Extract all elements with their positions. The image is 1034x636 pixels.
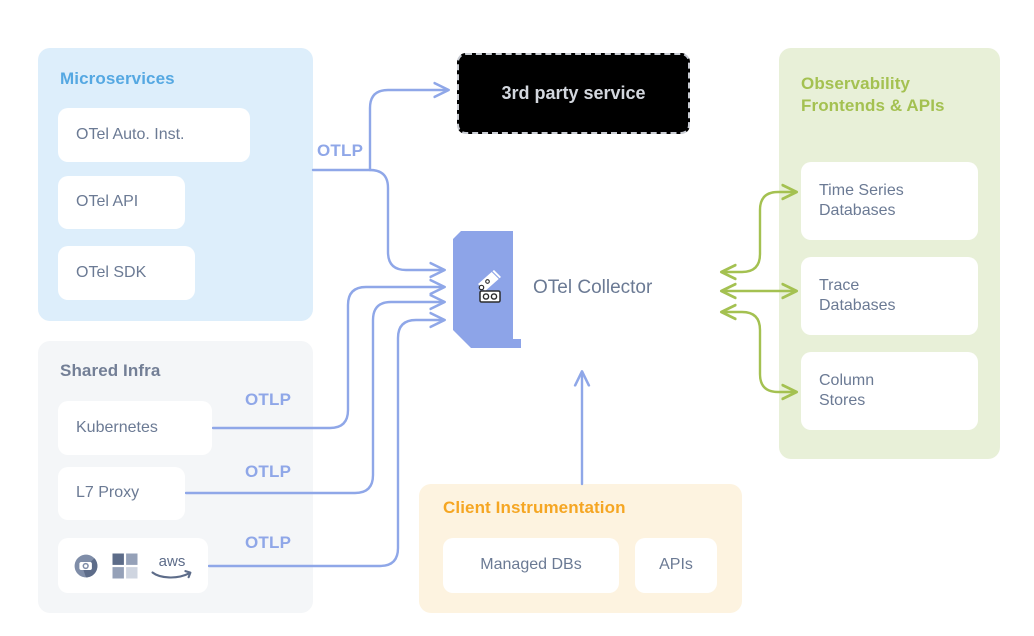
panel-shared-infra-title: Shared Infra: [60, 360, 160, 382]
card-column-stores[interactable]: Column Stores: [801, 352, 978, 430]
card-trace-databases[interactable]: Trace Databases: [801, 257, 978, 335]
card-apis[interactable]: APIs: [635, 538, 717, 593]
third-party-service-box[interactable]: 3rd party service: [457, 53, 690, 134]
otlp-label-kubernetes: OTLP: [245, 390, 291, 410]
card-kubernetes[interactable]: Kubernetes: [58, 401, 212, 455]
azure-icon: [112, 553, 138, 579]
card-otel-sdk[interactable]: OTel SDK: [58, 246, 195, 300]
panel-client-instrumentation-title: Client Instrumentation: [443, 497, 626, 519]
otlp-label-microservices: OTLP: [317, 141, 363, 161]
otlp-label-cloud: OTLP: [245, 533, 291, 553]
card-time-series-databases[interactable]: Time Series Databases: [801, 162, 978, 240]
otel-collector-label: OTel Collector: [533, 277, 652, 299]
card-cloud-providers[interactable]: aws: [58, 538, 208, 593]
telescope-icon: [466, 264, 508, 306]
aws-icon: aws: [149, 552, 195, 580]
panel-observability-title: Observability Frontends & APIs: [801, 73, 945, 118]
card-managed-dbs[interactable]: Managed DBs: [443, 538, 619, 593]
svg-text:aws: aws: [159, 553, 186, 570]
otlp-label-l7proxy: OTLP: [245, 462, 291, 482]
card-l7-proxy[interactable]: L7 Proxy: [58, 467, 185, 520]
panel-microservices-title: Microservices: [60, 68, 175, 90]
edge-microservices-to-thirdparty: [370, 90, 448, 170]
card-otel-api[interactable]: OTel API: [58, 176, 185, 229]
edge-microservices-to-collector: [370, 170, 444, 270]
gcp-icon: [71, 553, 101, 579]
card-otel-auto-inst[interactable]: OTel Auto. Inst.: [58, 108, 250, 162]
diagram-canvas: Microservices Shared Infra Observability…: [0, 0, 1034, 636]
